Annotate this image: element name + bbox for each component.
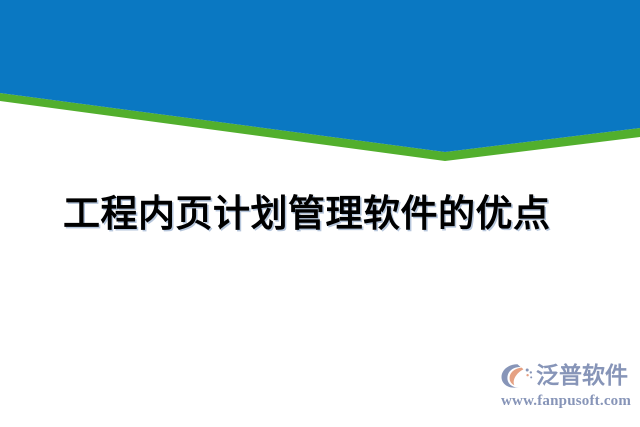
header-green-stripe <box>0 93 640 161</box>
brand-url: www.fanpusoft.com <box>501 394 632 409</box>
header-blue-shape <box>0 0 640 152</box>
page-title: 工程内页计划管理软件的优点 <box>63 195 551 232</box>
title-block: 工程内页计划管理软件的优点 <box>0 184 640 242</box>
fanpu-logo-mark-icon <box>500 362 534 390</box>
header-banner <box>0 0 640 170</box>
brand-logo-row: 泛普软件 <box>500 361 632 391</box>
slide-canvas: 工程内页计划管理软件的优点 泛普软件 www.fanpusoft.com <box>0 0 640 427</box>
brand-name: 泛普软件 <box>536 365 628 388</box>
brand-logo[interactable]: 泛普软件 www.fanpusoft.com <box>500 361 632 413</box>
